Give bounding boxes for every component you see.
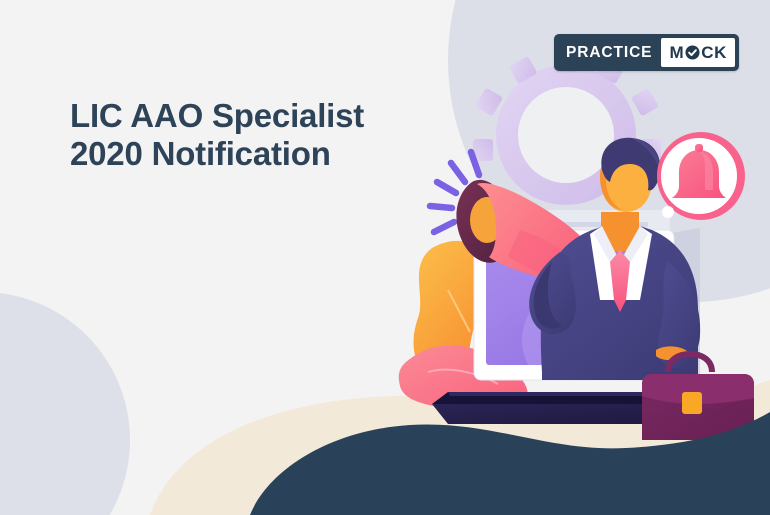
- logo-mock-box: M C K: [661, 38, 735, 67]
- logo-letter-k: K: [714, 44, 727, 61]
- logo-letter-c: C: [701, 44, 714, 61]
- logo-letter-m: M: [669, 44, 684, 61]
- foreground-wave: [0, 0, 770, 515]
- decor-wave-navy: [250, 412, 770, 515]
- check-circle-icon: [685, 45, 700, 60]
- page-title: LIC AAO Specialist 2020 Notification: [70, 97, 450, 174]
- brand-logo[interactable]: PRACTICE M C K: [554, 34, 739, 71]
- headline-line-1: LIC AAO Specialist: [70, 97, 450, 135]
- headline-line-2: 2020 Notification: [70, 135, 450, 173]
- logo-text-practice: PRACTICE: [558, 38, 661, 67]
- promotional-banner: LIC AAO Specialist 2020 Notification PRA…: [0, 0, 770, 515]
